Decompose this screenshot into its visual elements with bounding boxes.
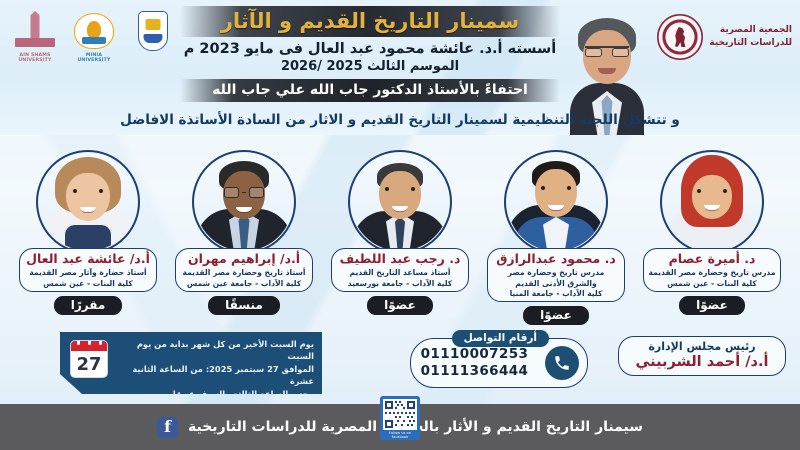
avatar [36, 150, 140, 254]
member-role-badge: منسقًا [208, 296, 280, 315]
member-name: د. محمود عبدالرازق [492, 252, 620, 266]
member-role-badge: عضوًا [679, 296, 745, 315]
phone-numbers: 01110007253 01111366444 [411, 346, 538, 380]
ain-shams-university-logo-icon [10, 10, 60, 52]
member-role-badge: عضوًا [523, 306, 589, 325]
chairman-label: رئيس مجلس الإدارة [625, 340, 779, 353]
member-card-mahmoud-abdelrazek: د. محمود عبدالرازق مدرس تاريخ وحضارة مصر… [480, 150, 632, 330]
member-role: أستاذ حضارة وآثار مصر القديمة [24, 268, 152, 278]
member-role: أستاذ مساعد التاريخ القديم [336, 268, 464, 278]
member-name: د. رجب عبد اللطيف [336, 252, 464, 266]
society-seal-icon [657, 14, 703, 60]
minia-university-logo-icon [69, 10, 119, 52]
seminar-poster: الجمعية المصرية للدراسات التاريخية MINIA… [0, 0, 800, 450]
contact-title: أرقام التواصل [452, 330, 549, 347]
member-name: أ.د/ عائشة عبد العال [24, 252, 152, 266]
society-branding: الجمعية المصرية للدراسات التاريخية [657, 14, 792, 60]
committee-intro-line: و تتشكل اللجنة التنظيمية لسمينار التاريخ… [0, 112, 800, 128]
member-role-badge: مقررًا [54, 296, 123, 315]
schedule-line-2: الموافق 27 سبتمبر 2025: من الساعة الثاني… [114, 363, 314, 388]
member-name: د. أميرة عصام [648, 252, 776, 266]
member-nameplate: أ.د/ إبراهيم مهران أستاذ تاريخ وحضارة مص… [175, 248, 313, 292]
member-role: مدرس تاريخ وحضارة مصر القديمة [648, 268, 776, 278]
member-name: أ.د/ إبراهيم مهران [180, 252, 308, 266]
member-card-aisha-abdel-aal: أ.د/ عائشة عبد العال أستاذ حضارة وآثار م… [12, 150, 164, 330]
phone-number-2[interactable]: 01111366444 [411, 363, 538, 380]
member-role-badge: عضوًا [367, 296, 433, 315]
title-block: سمينار التاريخ القديم و الآثار أسسته أ.د… [180, 6, 560, 102]
poster-bottom-section: رئيس مجلس الإدارة أ.د/ أحمد الشربيني أرق… [0, 332, 800, 404]
phone-number-1[interactable]: 01110007253 [411, 346, 538, 363]
poster-header: الجمعية المصرية للدراسات التاريخية MINIA… [0, 0, 800, 135]
member-card-amira-essam: د. أميرة عصام مدرس تاريخ وحضارة مصر القد… [636, 150, 788, 330]
contact-phones-box[interactable]: أرقام التواصل 01110007253 01111366444 [410, 338, 588, 388]
facebook-icon[interactable]: f [157, 417, 178, 438]
member-affiliation: كلية الآداب - جامعة بورسعيد [336, 279, 464, 289]
chairman-name: أ.د/ أحمد الشربيني [625, 354, 779, 370]
member-nameplate: أ.د/ عائشة عبد العال أستاذ حضارة وآثار م… [19, 248, 157, 292]
avatar [660, 150, 764, 254]
avatar [504, 150, 608, 254]
schedule-line-1: يوم السبت الأخير من كل شهر بداية من يوم … [114, 338, 314, 363]
tribute-line: احتفاءً بالأستاذ الدكتور جاب الله علي جا… [190, 82, 550, 98]
university-logo-minia: MINIA UNIVERSITY [69, 10, 119, 63]
founder-line: أسسته أ.د. عائشة محمود عبد العال فى مايو… [180, 41, 560, 57]
minia-university-caption: MINIA UNIVERSITY [69, 53, 119, 63]
chairman-box: رئيس مجلس الإدارة أ.د/ أحمد الشربيني [618, 336, 786, 376]
society-name: الجمعية المصرية للدراسات التاريخية [709, 24, 792, 51]
university-logo-ain-shams: AIN SHAMS UNIVERSITY [10, 10, 60, 63]
member-affiliation: كلية الآداب - جامعة المنيا [492, 289, 620, 299]
schedule-line-3: وحتى الساعة الثالثة والنصف عصرًا. [114, 388, 314, 400]
member-affiliation: كلية البنات - عين شمس [648, 279, 776, 289]
university-logos: MINIA UNIVERSITY AIN SHAMS UNIVERSITY [10, 10, 178, 63]
season-line: الموسم الثالث 2025 /2026 [180, 59, 560, 74]
avatar [348, 150, 452, 254]
ain-shams-university-caption: AIN SHAMS UNIVERSITY [10, 53, 60, 63]
title-banner: سمينار التاريخ القديم و الآثار [180, 6, 560, 37]
phone-icon [545, 346, 579, 380]
member-affiliation: كلية البنات - عين شمس [24, 279, 152, 289]
calendar-day-number: 27 [71, 351, 107, 378]
society-name-line2: للدراسات التاريخية [709, 37, 792, 51]
page-title: سمينار التاريخ القديم و الآثار [190, 9, 550, 33]
member-affiliation: كلية الآداب - جامعة عين شمس [180, 279, 308, 289]
committee-members-list: أ.د/ عائشة عبد العال أستاذ حضارة وآثار م… [0, 150, 800, 330]
tribute-banner: احتفاءً بالأستاذ الدكتور جاب الله علي جا… [180, 79, 560, 102]
member-role: مدرس تاريخ وحضارة مصر والشرق الأدنى القد… [492, 268, 620, 289]
qr-caption: Follow us on facebook [383, 431, 417, 439]
member-card-ibrahim-mahran: أ.د/ إبراهيم مهران أستاذ تاريخ وحضارة مص… [168, 150, 320, 330]
university-logo-1 [128, 10, 178, 52]
avatar [192, 150, 296, 254]
society-name-line1: الجمعية المصرية [709, 24, 792, 38]
shield-logo-icon [128, 10, 178, 52]
calendar-icon: 27 [70, 340, 108, 378]
member-card-ragab-abdel-latif: د. رجب عبد اللطيف أستاذ مساعد التاريخ ال… [324, 150, 476, 330]
schedule-panel: يوم السبت الأخير من كل شهر بداية من يوم … [60, 332, 322, 394]
member-nameplate: د. محمود عبدالرازق مدرس تاريخ وحضارة مصر… [487, 248, 625, 302]
member-nameplate: د. أميرة عصام مدرس تاريخ وحضارة مصر القد… [643, 248, 781, 292]
member-nameplate: د. رجب عبد اللطيف أستاذ مساعد التاريخ ال… [331, 248, 469, 292]
member-role: أستاذ تاريخ وحضارة مصر القديمة [180, 268, 308, 278]
qr-code-image [383, 399, 417, 430]
qr-code-icon[interactable]: Follow us on facebook [380, 396, 420, 440]
